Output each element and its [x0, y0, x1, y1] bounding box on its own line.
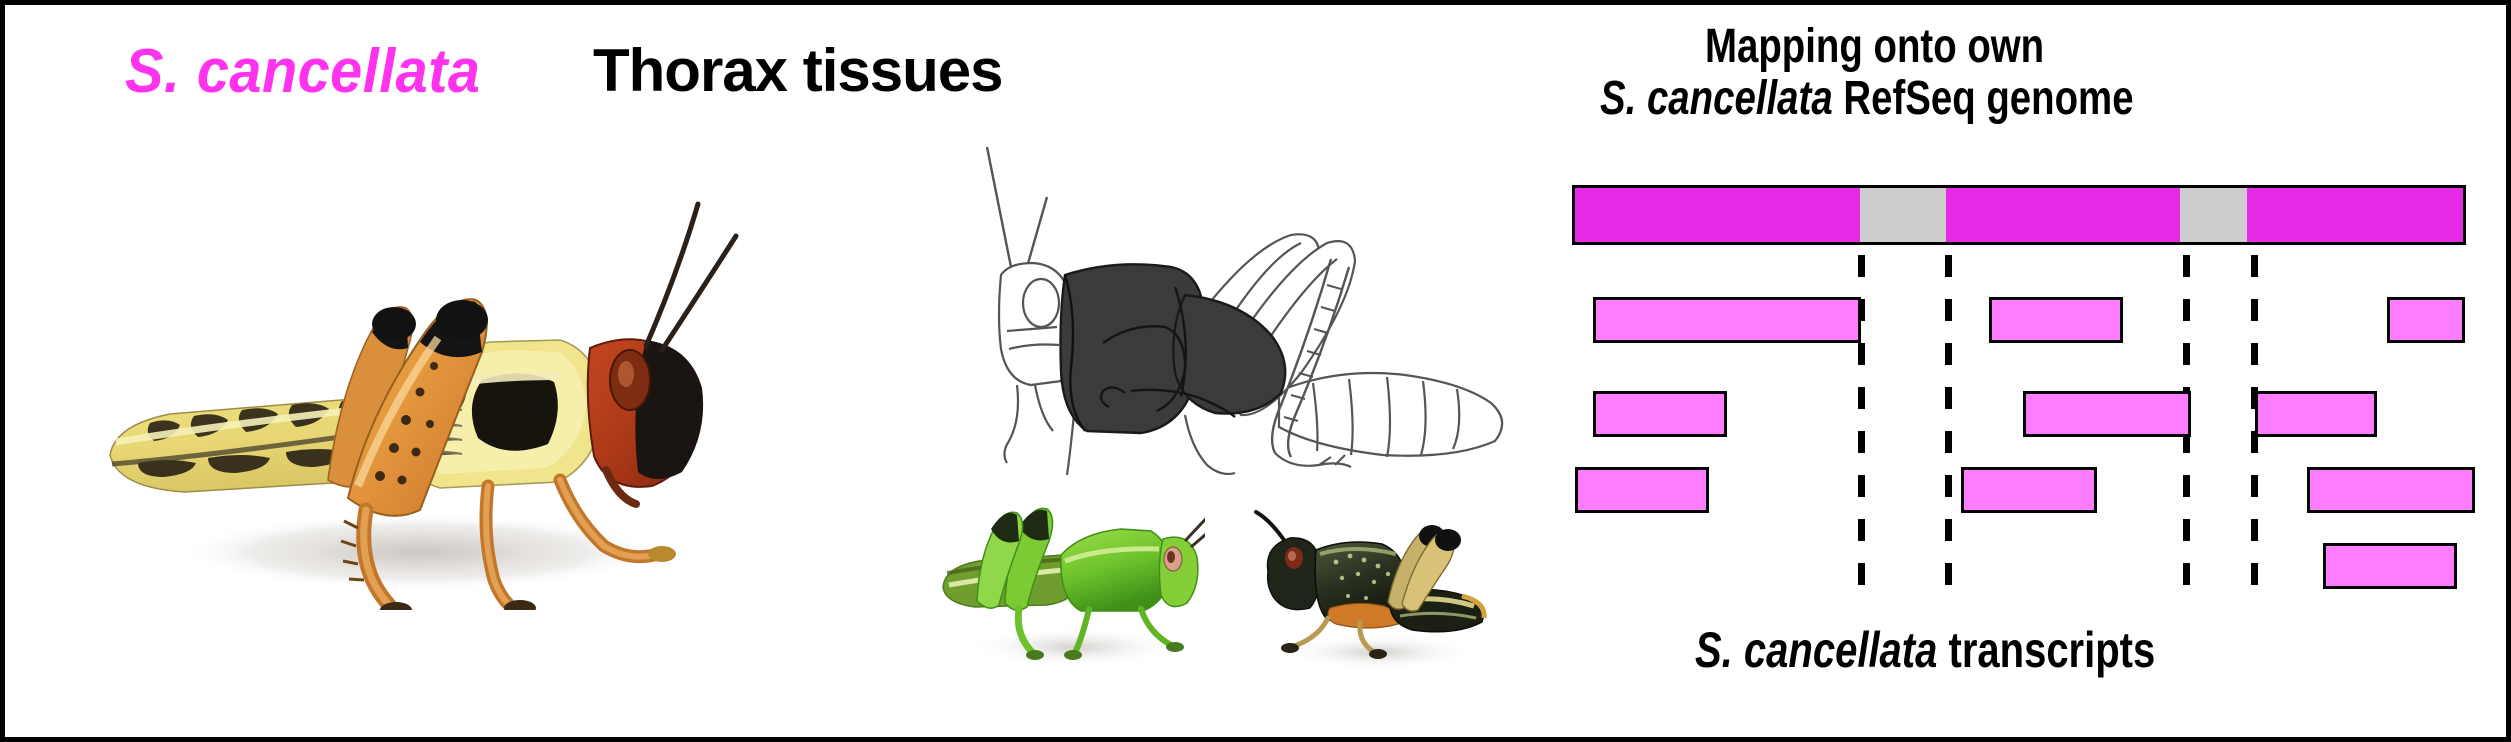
- transcript-row-1-block-2: [1989, 297, 2123, 343]
- transcript-row-2-block-3: [2255, 391, 2377, 437]
- genome-segment-exon-3: [1946, 188, 2180, 242]
- transcript-row-1-block-3: [2387, 297, 2465, 343]
- transcript-row-4-block-1: [2323, 543, 2457, 589]
- genome-segment-exon-1: [1575, 188, 1860, 242]
- splice-guide-4: [2251, 255, 2258, 585]
- transcript-row-2-block-2: [2023, 391, 2191, 437]
- transcript-row-3-block-3: [2307, 467, 2475, 513]
- genome-segment-intron-4: [2180, 188, 2247, 242]
- splice-guide-2: [1945, 255, 1952, 585]
- figure-canvas: S. cancellata: [0, 0, 2511, 742]
- genome-segment-intron-2: [1860, 188, 1946, 242]
- transcripts-caption: S. cancellata transcripts: [1695, 625, 2155, 675]
- transcript-row-1-block-1: [1593, 297, 1861, 343]
- grasshopper-line-drawing: [935, 135, 1545, 475]
- refseq-genome-bar: [1572, 185, 2466, 245]
- transcript-row-3-block-2: [1961, 467, 2097, 513]
- mapping-title-species: S. cancellata: [1600, 72, 1833, 125]
- adult-locust-photograph: [90, 180, 810, 610]
- transcripts-caption-species: S. cancellata: [1695, 622, 1937, 678]
- transcript-row-3-block-1: [1575, 467, 1709, 513]
- dark-nymph-photograph: [1250, 510, 1490, 675]
- mapping-title-line1: Mapping onto own: [1705, 23, 2044, 71]
- splice-guide-1: [1858, 255, 1865, 585]
- mapping-title-line2: S. cancellata RefSeq genome: [1600, 75, 2134, 123]
- green-nymph-photograph: [935, 495, 1205, 675]
- transcript-row-2-block-1: [1593, 391, 1727, 437]
- splice-guide-3: [2183, 255, 2190, 585]
- mapping-title-refseq: RefSeq genome: [1843, 72, 2133, 125]
- thorax-title: Thorax tissues: [593, 41, 1003, 101]
- transcripts-caption-rest: transcripts: [1949, 622, 2156, 678]
- species-title: S. cancellata: [125, 41, 480, 103]
- genome-segment-exon-5: [2247, 188, 2463, 242]
